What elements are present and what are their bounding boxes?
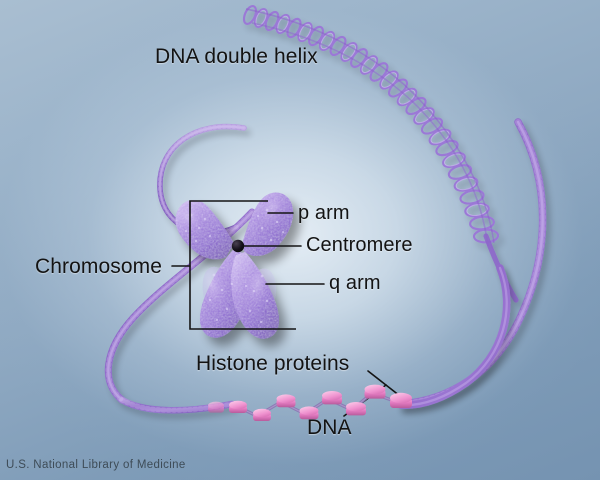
label-dna: DNA [307,417,352,438]
label-p-arm: p arm [298,203,350,223]
label-histone-proteins: Histone proteins [196,353,349,374]
label-dna-double-helix: DNA double helix [155,46,318,67]
chromatin-fiber-right-lower [401,268,507,405]
diagram-graphics [0,0,600,480]
label-centromere: Centromere [306,235,413,255]
centromere-dot [232,240,244,252]
label-q-arm: q arm [329,273,381,293]
source-credit: U.S. National Library of Medicine [6,459,186,471]
label-chromosome: Chromosome [35,256,162,277]
diagram-canvas: DNA double helix Chromosome p arm Centro… [0,0,600,480]
